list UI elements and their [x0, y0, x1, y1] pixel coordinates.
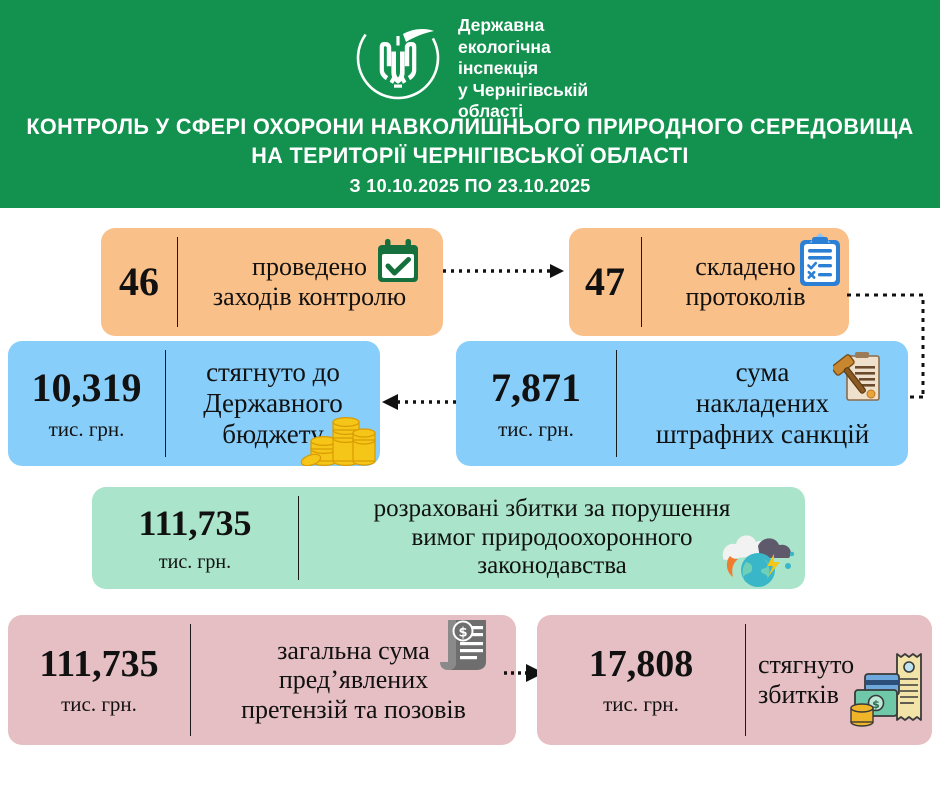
svg-text:$: $ [458, 626, 467, 641]
stat-label-line-3: штрафних санкцій [656, 419, 869, 450]
stat-value: 7,871 [491, 368, 581, 408]
report-period: З 10.10.2025 ПО 23.10.2025 [0, 173, 940, 199]
stat-label-line-3: законодавства [374, 552, 731, 581]
ukraine-trident-emblem-icon [348, 6, 448, 106]
stat-label: розраховані збитки за порушення вимог пр… [374, 495, 731, 581]
stat-label-line-1: стягнуто до [203, 357, 342, 388]
stat-label-line-1: загальна сума [241, 636, 466, 666]
title-line-2: НА ТЕРИТОРІЇ ЧЕРНІГІВСЬКОЇ ОБЛАСТІ [19, 141, 921, 170]
page-title: КОНТРОЛЬ У СФЕРІ ОХОРОНИ НАВКОЛИШНЬОГО П… [0, 112, 940, 199]
stat-unit: тис. грн. [49, 419, 125, 440]
org-name-line-3: інспекція [458, 58, 588, 80]
stat-label-line-3: претензій та позовів [241, 695, 466, 725]
stat-value: 10,319 [32, 368, 142, 408]
stat-unit: тис. грн. [61, 694, 137, 715]
payment-receipt-icon: $ [845, 650, 927, 730]
stat-label-line-1: стягнуто [758, 650, 854, 680]
calendar-check-icon [374, 238, 422, 286]
header-banner: Державна екологічна інспекція у Чернігів… [0, 0, 940, 208]
stat-value: 111,735 [39, 645, 158, 683]
stat-value-block: 111,735 тис. грн. [92, 487, 298, 589]
org-name-line-4: у Чернігівській [458, 80, 588, 102]
coin-stacks-icon [300, 398, 376, 466]
connector-fines-to-budget [380, 393, 460, 411]
stat-label-line-2: збитків [758, 680, 854, 710]
logo-row: Державна екологічна інспекція у Чернігів… [348, 6, 588, 123]
stat-label-line-2: заходів контролю [213, 282, 406, 312]
stat-label-line-2: протоколів [685, 282, 805, 312]
stat-label: стягнуто збитків [758, 650, 854, 709]
org-name-line-1: Державна [458, 15, 588, 37]
clipboard-list-icon [797, 232, 843, 290]
stat-unit: тис. грн. [498, 419, 574, 440]
stat-card-calculated-damages: 111,735 тис. грн. розраховані збитки за … [92, 487, 805, 589]
stat-label-line-1: розраховані збитки за порушення [374, 495, 731, 524]
stat-value-block: 47 [569, 228, 641, 336]
title-line-1: КОНТРОЛЬ У СФЕРІ ОХОРОНИ НАВКОЛИШНЬОГО П… [19, 112, 921, 141]
invoice-dollar-icon: $ [436, 618, 492, 672]
stat-value: 46 [119, 262, 159, 302]
climate-earth-icon [718, 526, 798, 588]
stat-label-line-1: складено [685, 252, 805, 282]
stat-unit: тис. грн. [603, 694, 679, 715]
stat-value-block: 111,735 тис. грн. [8, 615, 190, 745]
stat-label: загальна сума пред’явлених претензій та … [241, 636, 466, 725]
stat-value-block: 17,808 тис. грн. [537, 615, 745, 745]
stat-value: 111,735 [138, 505, 251, 541]
org-name: Державна екологічна інспекція у Чернігів… [458, 6, 588, 123]
stat-value-block: 7,871 тис. грн. [456, 341, 616, 466]
connector-inspections-to-protocols [443, 262, 571, 280]
stat-label: складено протоколів [685, 252, 805, 311]
gavel-document-icon [833, 350, 885, 406]
stat-value: 17,808 [589, 645, 694, 683]
stat-label-line-2: пред’явлених [241, 665, 466, 695]
stat-value: 47 [585, 262, 625, 302]
stat-value-block: 46 [101, 228, 177, 336]
stat-value-block: 10,319 тис. грн. [8, 341, 165, 466]
stat-unit: тис. грн. [159, 552, 231, 572]
org-name-line-2: екологічна [458, 37, 588, 59]
stat-label-line-2: вимог природоохоронного [374, 524, 731, 553]
